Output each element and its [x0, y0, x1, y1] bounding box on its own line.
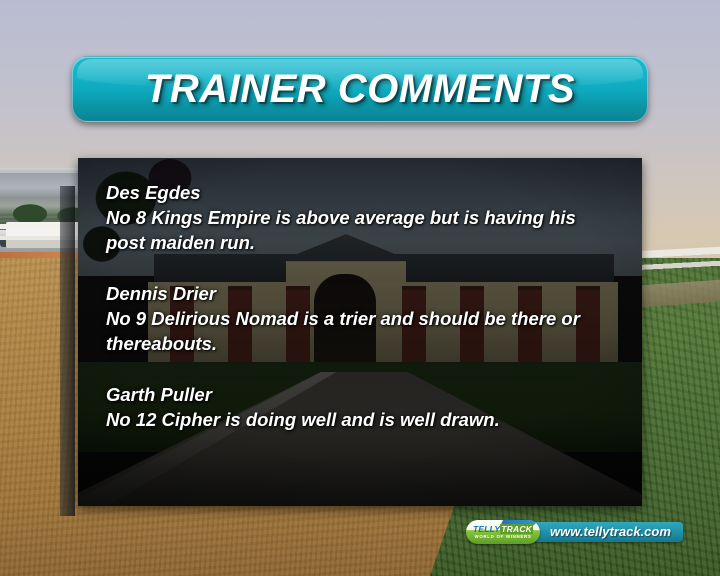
- logo-wordmark-primary: TELLY: [473, 524, 500, 534]
- trainer-comment-entry: Garth Puller No 12 Cipher is doing well …: [106, 382, 616, 432]
- logo-wordmark-accent: TRACK: [500, 524, 533, 534]
- trainer-comments-card: RACE 5 TRAINER COMMENTS: [72, 56, 648, 508]
- trainer-name: Garth Puller: [106, 382, 616, 407]
- broadcast-graphic-screen: RACE 5 TRAINER COMMENTS: [0, 0, 720, 576]
- trainer-name: Dennis Drier: [106, 281, 616, 306]
- website-url: www.tellytrack.com: [528, 522, 683, 542]
- logo-wordmark: TELLYTRACK: [473, 525, 533, 534]
- race-subtitle: RACE 5: [318, 118, 401, 154]
- trainer-name: Des Egdes: [106, 180, 616, 205]
- page-title: TRAINER COMMENTS: [145, 67, 575, 112]
- trainer-comment-text: No 8 Kings Empire is above average but i…: [106, 205, 614, 255]
- trainer-comment-text: No 12 Cipher is doing well and is well d…: [106, 407, 614, 432]
- comments-panel: Des Egdes No 8 Kings Empire is above ave…: [78, 158, 642, 506]
- logo-tagline: WORLD OF WINNERS: [474, 534, 531, 540]
- title-banner: TRAINER COMMENTS: [72, 56, 648, 122]
- trainer-comment-entry: Dennis Drier No 9 Delirious Nomad is a t…: [106, 281, 616, 356]
- trainer-comment-entry: Des Egdes No 8 Kings Empire is above ave…: [106, 180, 616, 255]
- channel-watermark: TELLYTRACK WORLD OF WINNERS www.tellytra…: [466, 519, 683, 545]
- tellytrack-logo: TELLYTRACK WORLD OF WINNERS: [466, 520, 540, 544]
- trainer-comment-text: No 9 Delirious Nomad is a trier and shou…: [106, 306, 614, 356]
- trainer-comments-list: Des Egdes No 8 Kings Empire is above ave…: [78, 158, 642, 506]
